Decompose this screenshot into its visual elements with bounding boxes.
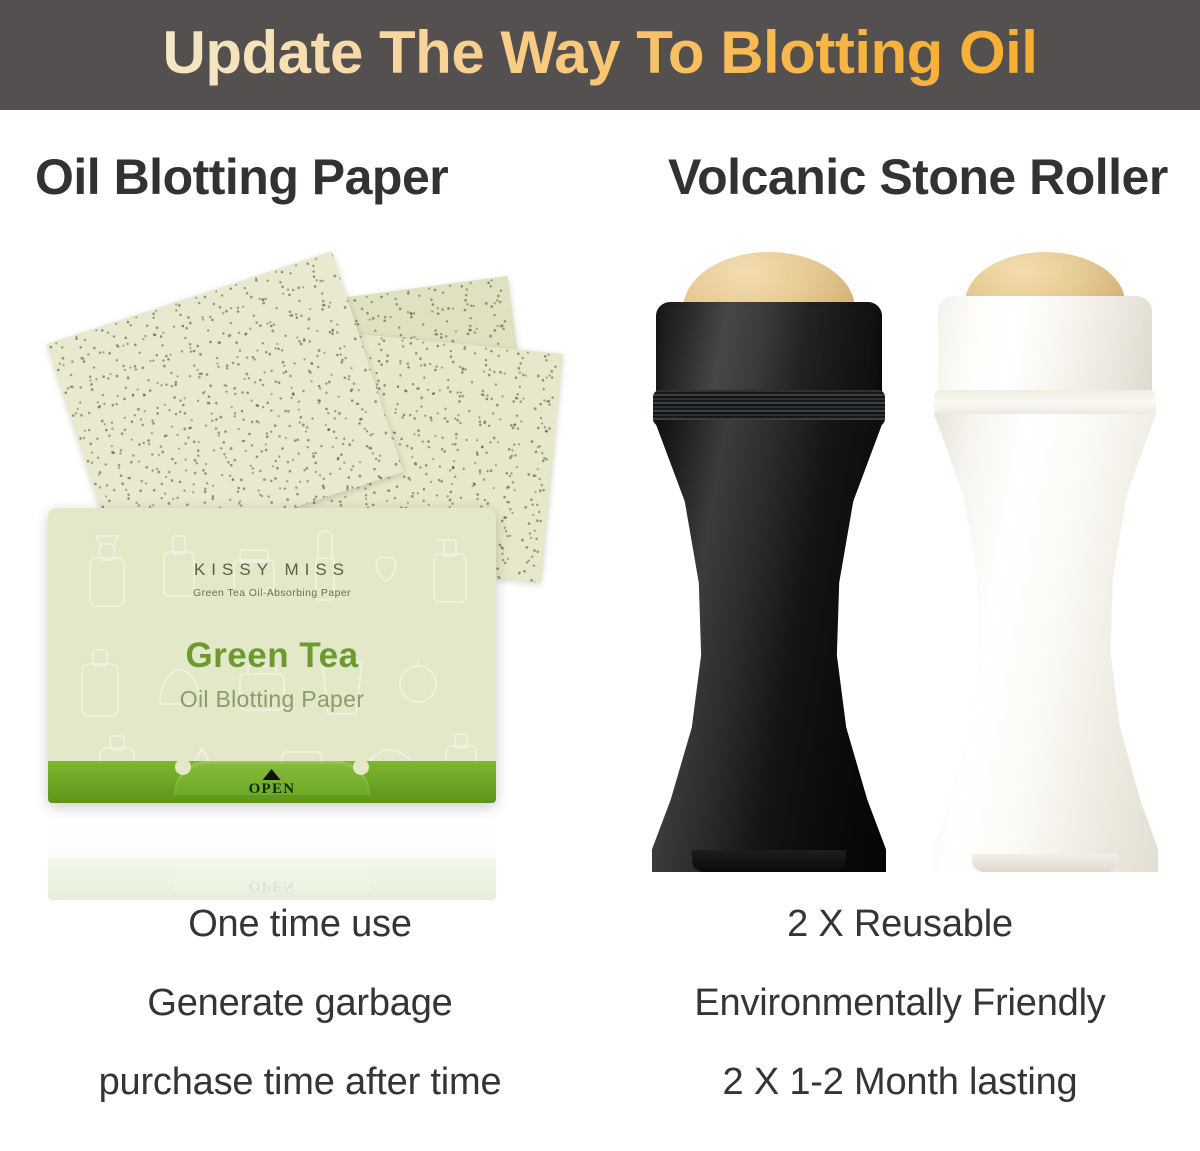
right-column-heading: Volcanic Stone Roller: [668, 148, 1168, 206]
left-column-heading: Oil Blotting Paper: [35, 148, 448, 206]
left-feature-list: One time use Generate garbage purchase t…: [0, 905, 600, 1101]
white-volcanic-stone-roller: [920, 252, 1170, 872]
roller-collar: [938, 296, 1152, 404]
page-title: Update The Way To Blotting Oil: [163, 23, 1038, 87]
header-banner: Update The Way To Blotting Oil: [0, 0, 1200, 110]
feature-item: purchase time after time: [99, 1063, 502, 1101]
brand-subtitle: Green Tea Oil-Absorbing Paper: [48, 587, 496, 599]
blotting-paper-product-image: OPEN: [20, 250, 600, 900]
roller-body: [652, 420, 886, 872]
feature-item: 2 X 1-2 Month lasting: [723, 1063, 1078, 1101]
infographic-page: Update The Way To Blotting Oil Oil Blott…: [0, 0, 1200, 1151]
green-tea-package-box: KISSY MISS Green Tea Oil-Absorbing Paper…: [48, 508, 496, 803]
product-title-block: Green Tea Oil Blotting Paper: [48, 636, 496, 713]
open-label: OPEN: [249, 781, 296, 797]
feature-item: One time use: [188, 905, 412, 943]
reflection-open-label: OPEN: [249, 877, 296, 894]
roller-base: [692, 850, 846, 872]
brand-name: KISSY MISS: [48, 560, 496, 580]
product-subtitle: Oil Blotting Paper: [48, 686, 496, 713]
up-arrow-icon: [263, 769, 281, 780]
strip-cut-right: [353, 759, 369, 775]
box-reflection: OPEN: [48, 804, 496, 900]
feature-item: Generate garbage: [147, 984, 452, 1022]
roller-body: [932, 414, 1158, 872]
roller-base: [972, 854, 1118, 872]
right-feature-list: 2 X Reusable Environmentally Friendly 2 …: [600, 905, 1200, 1101]
feature-item: Environmentally Friendly: [694, 984, 1105, 1022]
open-label-group: OPEN: [249, 769, 296, 797]
black-volcanic-stone-roller: [644, 252, 894, 872]
volcanic-roller-product-image: [630, 240, 1190, 880]
strip-cut-left: [175, 759, 191, 775]
feature-item: 2 X Reusable: [787, 905, 1013, 943]
box-open-strip: OPEN: [48, 761, 496, 803]
brand-block: KISSY MISS Green Tea Oil-Absorbing Paper: [48, 560, 496, 599]
product-name: Green Tea: [48, 636, 496, 676]
